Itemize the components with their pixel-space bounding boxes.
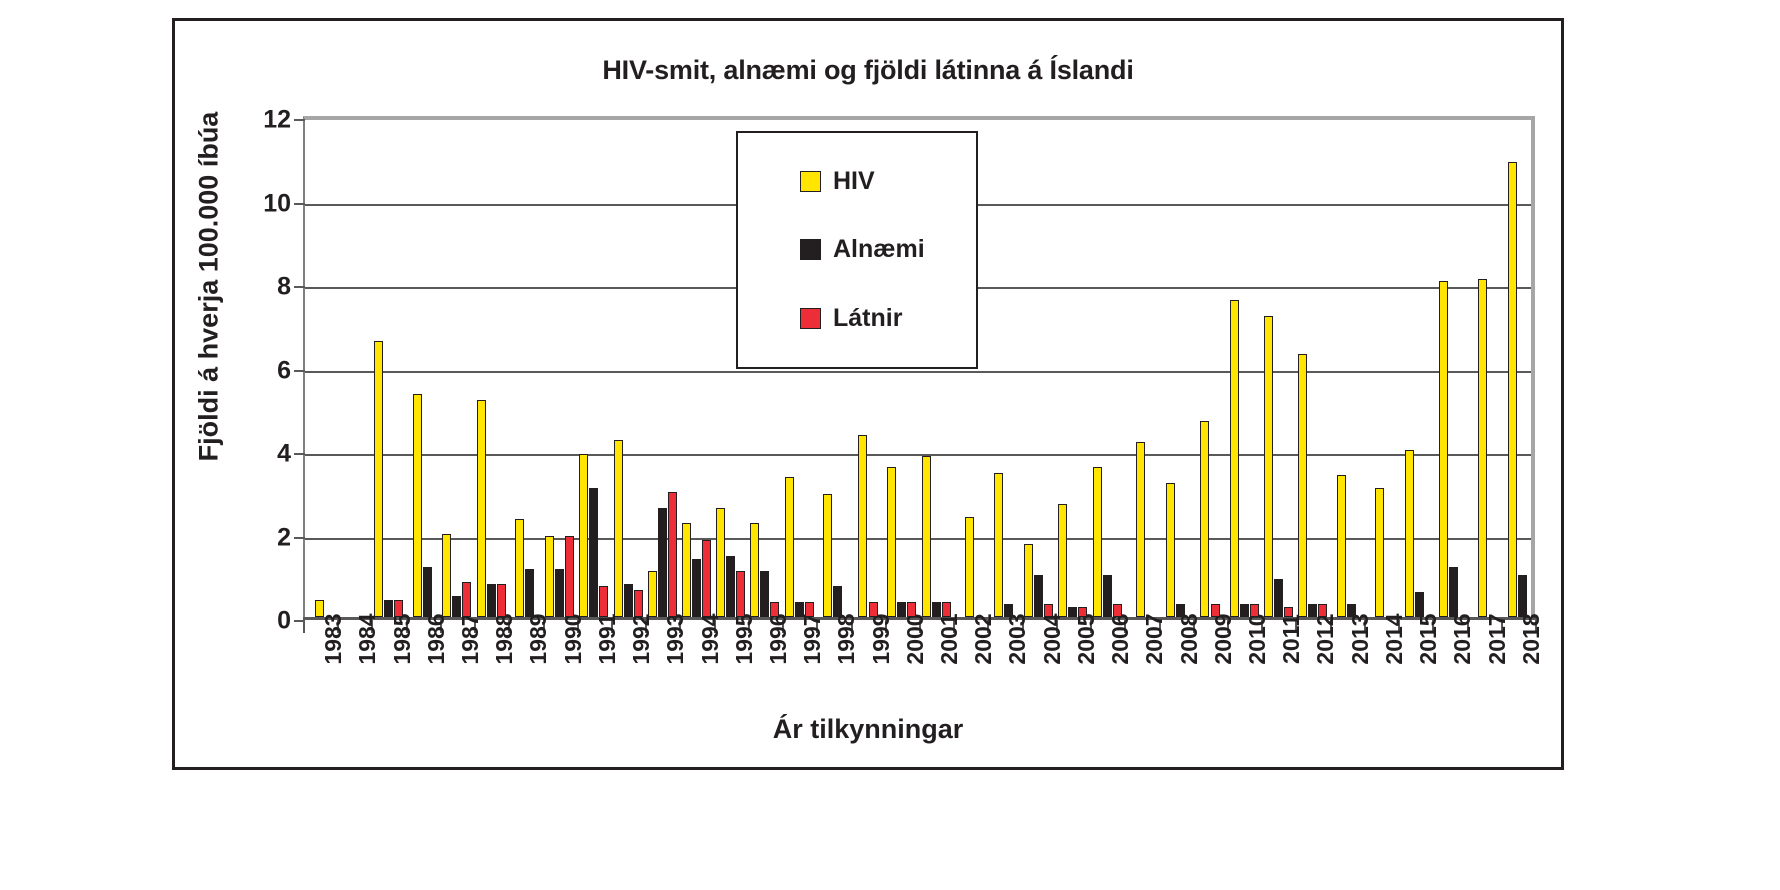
bar-dead[interactable] [1044,604,1053,617]
bar-hiv[interactable] [1024,544,1033,617]
bar-aids[interactable] [1103,575,1112,617]
bar-dead[interactable] [634,590,643,617]
bar-aids[interactable] [795,602,804,617]
legend-swatch-aids-icon [800,239,821,260]
bar-dead[interactable] [599,586,608,617]
bar-hiv[interactable] [1439,281,1448,617]
bar-aids[interactable] [760,571,769,617]
bar-aids[interactable] [833,586,842,617]
bar-aids[interactable] [624,584,633,617]
bar-dead[interactable] [462,582,471,617]
bar-hiv[interactable] [1337,475,1346,617]
bar-hiv[interactable] [965,517,974,617]
bar-hiv[interactable] [315,600,324,617]
bar-aids[interactable] [555,569,564,617]
bar-group [1124,116,1158,617]
bar-dead[interactable] [736,571,745,617]
chart-legend[interactable]: HIVAlnæmiLátnir [736,131,978,369]
bar-hiv[interactable] [823,494,832,617]
bar-aids[interactable] [1308,604,1317,617]
bar-hiv[interactable] [994,473,1003,617]
bar-dead[interactable] [1318,604,1327,617]
bar-hiv[interactable] [1405,450,1414,617]
bar-hiv[interactable] [716,508,725,617]
bar-aids[interactable] [1240,604,1249,617]
bar-dead[interactable] [702,540,711,617]
bar-aids[interactable] [1068,607,1077,617]
bar-aids[interactable] [897,602,906,617]
bar-group [611,116,645,617]
legend-label: Alnæmi [833,235,925,264]
bar-group [1432,116,1466,617]
legend-item-aids[interactable]: Alnæmi [800,235,976,264]
bar-dead[interactable] [668,492,677,617]
bar-group [440,116,474,617]
bar-hiv[interactable] [887,467,896,617]
bar-aids[interactable] [1034,575,1043,617]
legend-item-dead[interactable]: Látnir [800,304,976,333]
bar-aids[interactable] [384,600,393,617]
bar-hiv[interactable] [614,440,623,617]
bar-group [1158,116,1192,617]
bar-group [1364,116,1398,617]
bar-aids[interactable] [1176,604,1185,617]
bar-dead[interactable] [1284,607,1293,617]
bar-group [1466,116,1500,617]
bar-dead[interactable] [497,584,506,617]
bar-group [337,116,371,617]
bar-hiv[interactable] [682,523,691,617]
bar-aids[interactable] [1415,592,1424,617]
y-tick-label: 12 [263,106,291,135]
bar-hiv[interactable] [579,454,588,617]
bar-group [1090,116,1124,617]
bar-group [1022,116,1056,617]
legend-item-hiv[interactable]: HIV [800,167,976,196]
bar-group [1193,116,1227,617]
bar-group [1295,116,1329,617]
bar-hiv[interactable] [545,536,554,617]
bar-group [1227,116,1261,617]
y-tick-label: 2 [277,523,291,552]
bar-aids[interactable] [525,569,534,617]
bar-group [1398,116,1432,617]
bar-dead[interactable] [869,602,878,617]
bar-group [1261,116,1295,617]
bar-group [508,116,542,617]
bar-aids[interactable] [932,602,941,617]
bar-group [543,116,577,617]
legend-label: Látnir [833,304,902,333]
bar-hiv[interactable] [477,400,486,617]
bar-aids[interactable] [658,508,667,617]
bar-hiv[interactable] [648,571,657,617]
bar-aids[interactable] [589,488,598,617]
bar-hiv[interactable] [785,477,794,617]
bar-group [679,116,713,617]
bar-group [371,116,405,617]
bar-hiv[interactable] [1298,354,1307,617]
y-tick-label: 6 [277,356,291,385]
bar-group [1501,116,1535,617]
bar-dead[interactable] [770,602,779,617]
bar-group [474,116,508,617]
bar-aids[interactable] [1347,604,1356,617]
bar-hiv[interactable] [515,519,524,617]
bar-hiv[interactable] [413,394,422,617]
chart-title: HIV-smit, alnæmi og fjöldi látinna á Ísl… [175,55,1561,86]
x-tick-mark [303,617,305,633]
y-tick-label: 8 [277,273,291,302]
bar-hiv[interactable] [750,523,759,617]
bar-hiv[interactable] [1058,504,1067,617]
bar-aids[interactable] [692,559,701,617]
bar-group [1330,116,1364,617]
bar-aids[interactable] [487,584,496,617]
bar-aids[interactable] [1518,575,1527,617]
y-tick-label: 0 [277,607,291,636]
legend-swatch-dead-icon [800,308,821,329]
bar-hiv[interactable] [858,435,867,617]
y-tick-label: 4 [277,440,291,469]
bar-aids[interactable] [1274,579,1283,617]
bar-aids[interactable] [1449,567,1458,617]
bar-hiv[interactable] [922,456,931,617]
bar-dead[interactable] [394,600,403,617]
bar-aids[interactable] [452,596,461,617]
bar-dead[interactable] [942,602,951,617]
bar-dead[interactable] [1250,604,1259,617]
bar-dead[interactable] [805,602,814,617]
bar-group [577,116,611,617]
bar-hiv[interactable] [1508,162,1517,617]
legend-label: HIV [833,167,875,196]
bar-dead[interactable] [565,536,574,617]
bar-dead[interactable] [1078,607,1087,617]
bar-hiv[interactable] [1264,316,1273,617]
bar-hiv[interactable] [1230,300,1239,617]
bar-aids[interactable] [726,556,735,617]
bar-aids[interactable] [1004,604,1013,617]
legend-swatch-hiv-icon [800,171,821,192]
bar-group [987,116,1021,617]
x-tick-label: 2018 [1518,613,1545,664]
bar-dead[interactable] [907,602,916,617]
bar-aids[interactable] [423,567,432,617]
bar-hiv[interactable] [1200,421,1209,617]
bar-hiv[interactable] [374,341,383,617]
bar-hiv[interactable] [1375,488,1384,617]
x-axis-title: Ár tilkynningar [175,714,1561,745]
chart-frame: HIV-smit, alnæmi og fjöldi látinna á Ísl… [172,18,1564,770]
bar-dead[interactable] [1113,604,1122,617]
bar-hiv[interactable] [1478,279,1487,617]
bar-hiv[interactable] [1093,467,1102,617]
y-axis-title: Fjöldi á hverja 100.000 íbúa [194,57,225,517]
bar-group [406,116,440,617]
bar-group [1056,116,1090,617]
bar-hiv[interactable] [442,534,451,618]
bar-group [303,116,337,617]
bar-hiv[interactable] [1136,442,1145,617]
bar-group [645,116,679,617]
y-tick-label: 10 [263,189,291,218]
bar-hiv[interactable] [1166,483,1175,617]
bar-dead[interactable] [1211,604,1220,617]
